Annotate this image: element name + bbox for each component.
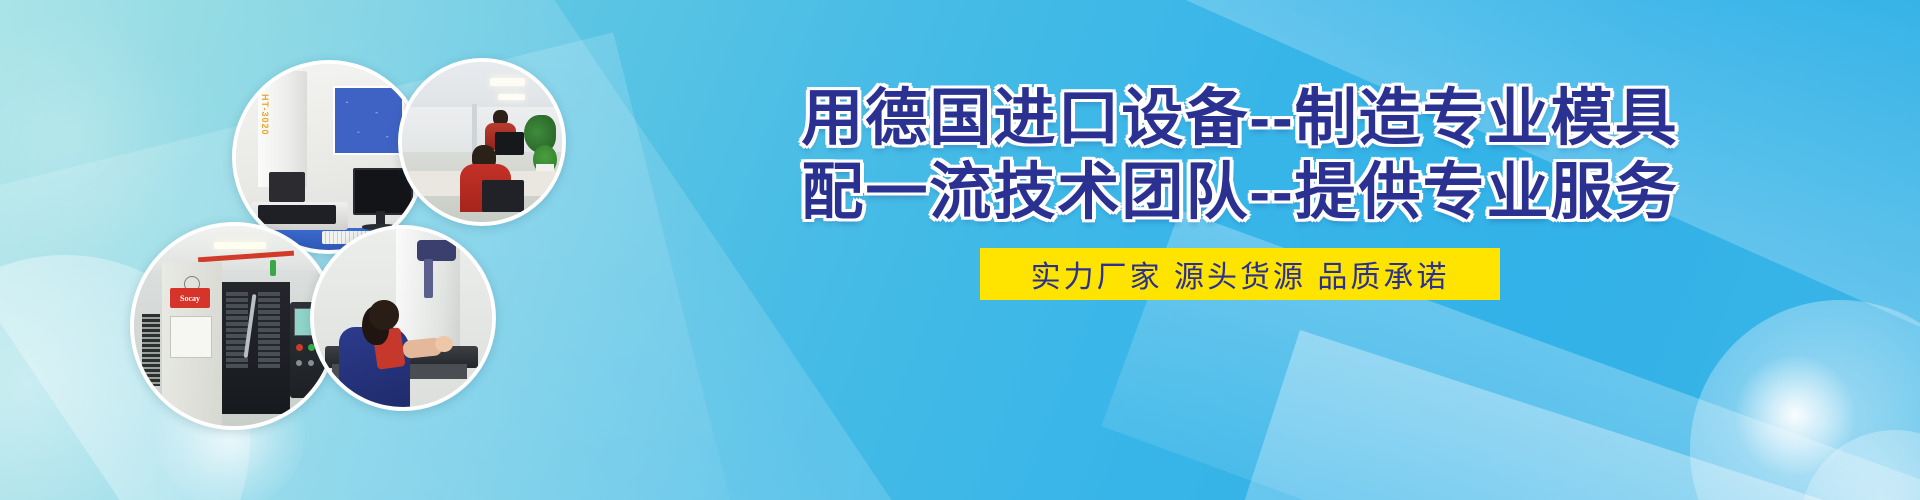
photo-inspection-worker bbox=[310, 225, 496, 411]
headline-line-2: 配一流技术团队--提供专业服务 bbox=[620, 156, 1860, 230]
photo-machine-glass bbox=[258, 205, 336, 224]
photo-cmm-probe bbox=[424, 259, 433, 298]
diagonal-band-icon bbox=[1195, 330, 1920, 500]
photo-control-button bbox=[296, 360, 302, 366]
photo-notice-paper bbox=[170, 316, 212, 358]
promo-banner: HT-3020 bbox=[0, 0, 1920, 500]
photo-ceiling bbox=[402, 62, 562, 113]
photo-control-button bbox=[296, 344, 303, 351]
banner-copy: 用德国进口设备--制造专业模具 配一流技术团队--提供专业服务 实力厂家 源头货… bbox=[620, 82, 1860, 300]
photo-ceiling-light bbox=[498, 94, 525, 100]
photo-cnc-machine: Socay bbox=[130, 222, 338, 430]
photo-vent-grill bbox=[142, 314, 160, 386]
bokeh-circle-icon bbox=[1800, 430, 1920, 500]
photo-monitor bbox=[482, 180, 524, 212]
light-glow-icon bbox=[1735, 355, 1855, 475]
photo-partition bbox=[472, 104, 477, 152]
tagline-bar: 实力厂家 源头货源 品质承诺 bbox=[980, 248, 1500, 300]
photo-door-window bbox=[258, 292, 280, 368]
photo-ceiling-light bbox=[490, 78, 525, 86]
tagline-text: 实力厂家 源头货源 品质承诺 bbox=[1031, 252, 1450, 296]
machine-label: HT-3020 bbox=[260, 94, 270, 136]
photo-monitor bbox=[495, 132, 524, 154]
photo-collage: HT-3020 bbox=[0, 0, 660, 500]
photo-machine-head bbox=[269, 172, 304, 202]
bokeh-circle-icon bbox=[1690, 300, 1920, 500]
photo-green-light bbox=[270, 260, 276, 276]
photo-cmm-arm bbox=[417, 240, 456, 261]
headline-line-1: 用德国进口设备--制造专业模具 bbox=[620, 82, 1860, 156]
photo-person-hand bbox=[435, 336, 453, 352]
photo-ceiling-light bbox=[214, 242, 266, 249]
photo-poster bbox=[333, 86, 404, 155]
photo-office-staff bbox=[398, 58, 566, 226]
machine-brand-label: Socay bbox=[170, 288, 210, 308]
